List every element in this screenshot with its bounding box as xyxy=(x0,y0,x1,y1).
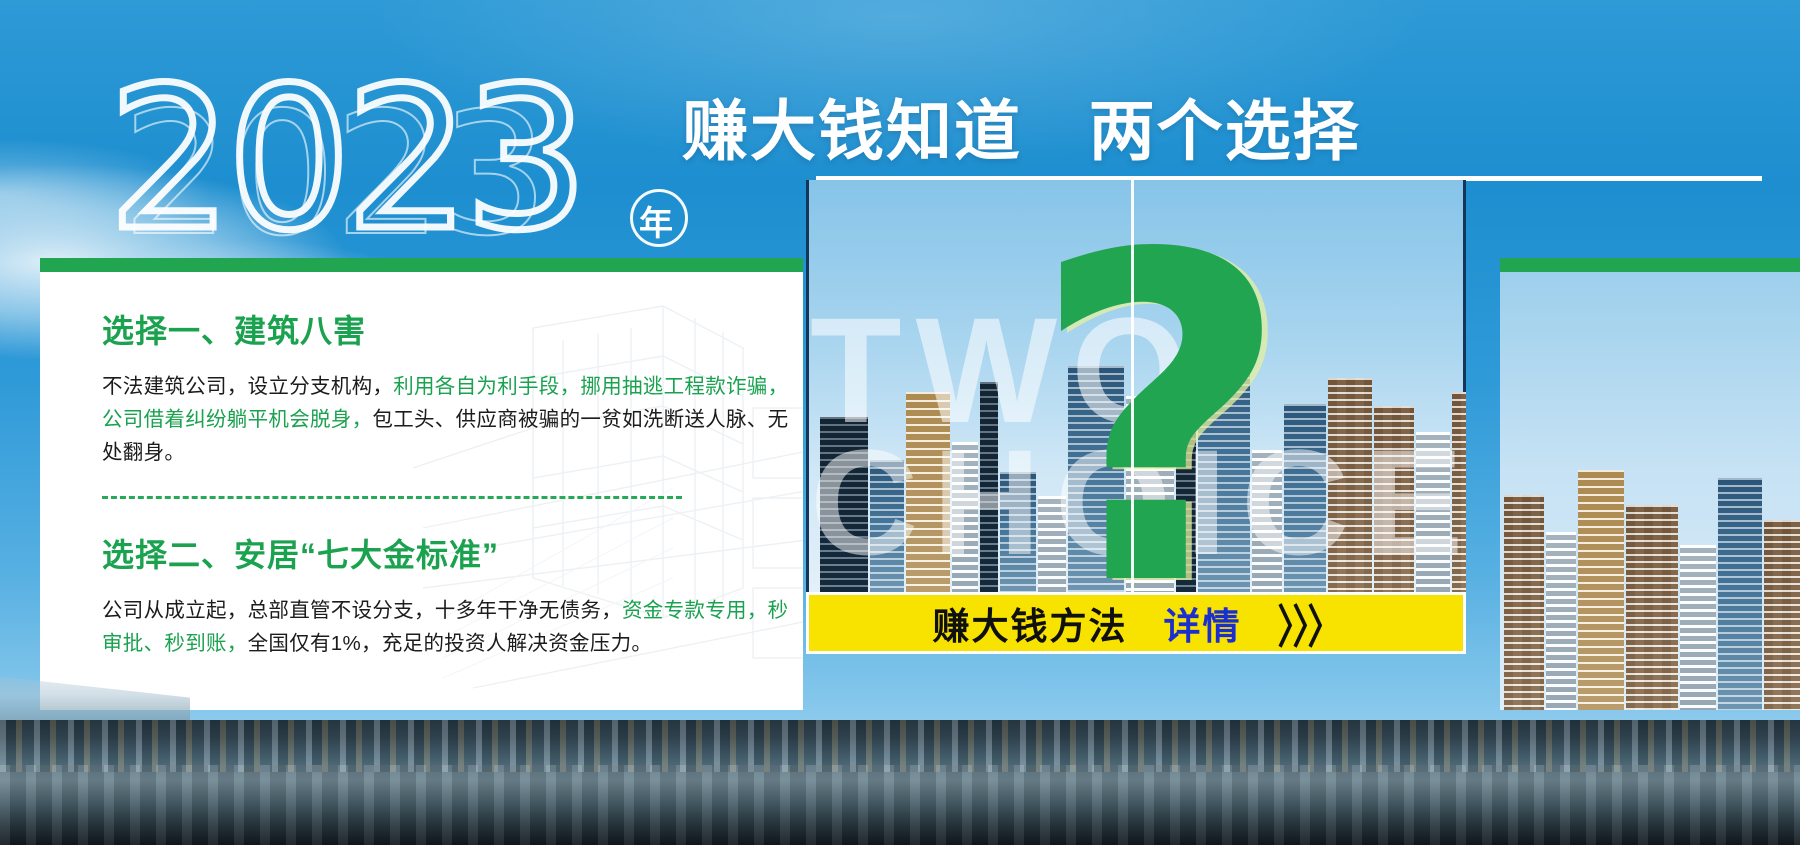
headline-left: 赚大钱知道 xyxy=(682,94,1022,168)
section-one: 选择一、建筑八害 不法建筑公司，设立分支机构，利用各自为利手段，挪用抽逃工程款诈… xyxy=(102,306,779,469)
cta-bar[interactable]: 赚大钱方法 详情 〉〉〉 xyxy=(806,592,1466,654)
right-photo-strip xyxy=(1500,272,1800,710)
section-divider xyxy=(102,496,682,499)
para-part: 全国仅有1%，充足的投资人解决资金压力。 xyxy=(248,632,653,655)
section-two-paragraph: 公司从成立起，总部直管不设分支，十多年干净无债务，资金专款专用，秒审批、秒到账，… xyxy=(102,594,802,660)
chevron-right-icon: 〉〉〉 xyxy=(1278,590,1340,656)
headline-right: 两个选择 xyxy=(1089,94,1361,168)
card-top-accent xyxy=(40,258,803,272)
section-one-paragraph: 不法建筑公司，设立分支机构，利用各自为利手段，挪用抽逃工程款诈骗，公司借着纠纷躺… xyxy=(102,370,802,469)
headline-underline-right xyxy=(1462,176,1762,181)
building xyxy=(1764,520,1800,710)
section-two-title: 选择二、安居“七大金标准” xyxy=(102,530,779,576)
building xyxy=(1680,545,1716,710)
section-one-title: 选择一、建筑八害 xyxy=(102,306,779,352)
building xyxy=(1626,505,1678,710)
building xyxy=(1504,495,1544,710)
building xyxy=(1718,478,1762,710)
question-mark-icon: ? xyxy=(1030,198,1291,648)
right-green-strip xyxy=(1500,258,1800,272)
panel-center-divider xyxy=(1131,180,1134,592)
para-part: 不法建筑公司，设立分支机构， xyxy=(102,375,393,398)
section-two: 选择二、安居“七大金标准” 公司从成立起，总部直管不设分支，十多年干净无债务，资… xyxy=(102,530,779,660)
promo-banner: 2023 2023 年 赚大钱知道 两个选择 xyxy=(0,0,1800,845)
info-card: 选择一、建筑八害 不法建筑公司，设立分支机构，利用各自为利手段，挪用抽逃工程款诈… xyxy=(40,258,803,710)
page-title: 赚大钱知道 两个选择 xyxy=(682,78,1361,174)
right-skyline xyxy=(1500,410,1800,710)
cta-detail-label[interactable]: 详情 xyxy=(1164,596,1242,650)
year-inner-outline: 2023 xyxy=(122,76,547,274)
para-part: 公司从成立起，总部直管不设分支，十多年干净无债务， xyxy=(102,599,622,622)
waterfront-band xyxy=(0,720,1800,845)
cta-main-label: 赚大钱方法 xyxy=(933,596,1128,650)
building xyxy=(1546,532,1576,710)
year-suffix-badge: 年 xyxy=(639,196,673,245)
building xyxy=(1578,470,1624,710)
